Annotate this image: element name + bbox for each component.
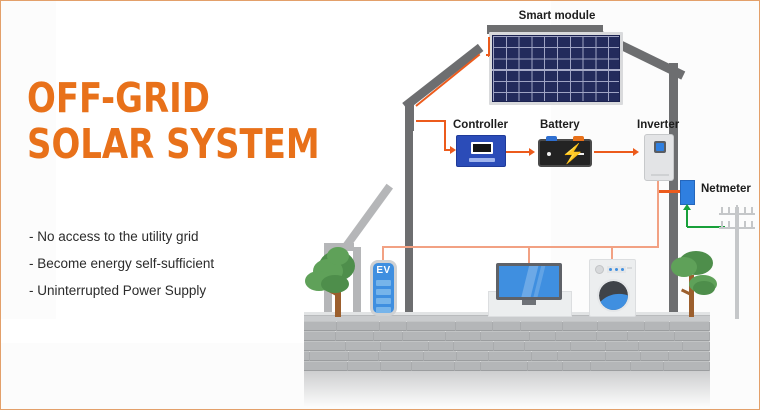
- foundation-stone: [641, 351, 668, 361]
- foundation-course: [304, 361, 710, 371]
- roof-slope-left-upper: [402, 44, 483, 110]
- tv-bezel: [496, 263, 562, 300]
- foundation-stone: [493, 321, 521, 331]
- ev-charger-icon: EV: [370, 260, 397, 316]
- washer-control-panel: [594, 264, 633, 275]
- foundation-stone: [489, 351, 531, 361]
- solar-panel-label: Smart module: [489, 10, 625, 22]
- ev-charger-segment: [376, 307, 391, 313]
- foundation-stone: [424, 351, 457, 361]
- foundation-course: [304, 341, 710, 351]
- netmeter-icon: [680, 180, 695, 205]
- washer-button: [621, 268, 624, 271]
- foundation-stone: [597, 331, 627, 341]
- foundation-course: [304, 321, 710, 331]
- foundation-stone: [631, 361, 663, 371]
- foundation-stone: [669, 351, 709, 361]
- foundation-stone: [571, 341, 605, 351]
- foundation-stone: [481, 361, 527, 371]
- controller-brandmark: [469, 158, 495, 162]
- inverter-label: Inverter: [637, 119, 679, 131]
- tree-foliage: [671, 257, 697, 277]
- pole-mast: [735, 207, 739, 319]
- foundation-stone: [304, 331, 335, 341]
- foundation-stone: [481, 331, 529, 341]
- wire-to-controller-h: [416, 120, 446, 122]
- foundation-stone: [310, 351, 348, 361]
- wire-panel-drop: [488, 37, 490, 55]
- tv-stand-neck: [522, 300, 536, 305]
- foundation-stone: [456, 321, 491, 331]
- lightning-bolt-icon: ⚡: [561, 145, 585, 164]
- foundation-stone: [563, 361, 590, 371]
- tree-icon: [303, 245, 363, 317]
- pole-insulator: [744, 221, 746, 228]
- foundation-stone: [606, 351, 640, 361]
- pole-insulator: [736, 205, 738, 214]
- pole-insulator: [721, 207, 723, 214]
- inverter-display: [654, 141, 666, 153]
- ev-charger-segment: [376, 298, 391, 304]
- washer-button: [615, 268, 618, 271]
- foundation-stone: [381, 341, 428, 351]
- infographic-canvas: OFF-GRID SOLAR SYSTEM - No access to the…: [0, 0, 760, 410]
- foundation-stone: [532, 351, 557, 361]
- washing-machine-icon: [589, 259, 636, 317]
- wire-panel-to-roof: [415, 54, 480, 107]
- foundation-stone: [304, 361, 347, 371]
- foundation-stone: [521, 321, 562, 331]
- foundation-stone: [457, 351, 488, 361]
- foundation-stone: [664, 361, 709, 371]
- foundation-stone: [412, 361, 453, 371]
- foundation-stone: [639, 341, 682, 351]
- wire-to-controller-v: [444, 120, 446, 149]
- washer-detergent-slot: [627, 267, 632, 269]
- foundation-stone: [380, 321, 406, 331]
- ground-reflection: [304, 371, 710, 407]
- foundation-stone: [336, 331, 372, 341]
- pole-crossarm-lower: [719, 227, 755, 229]
- controller-label: Controller: [453, 119, 508, 131]
- wire-controller-to-battery: [506, 151, 530, 153]
- foundation-stone: [591, 361, 630, 371]
- tree-foliage: [321, 275, 349, 293]
- wire-load-bus: [382, 246, 659, 248]
- foundation-stone: [494, 341, 524, 351]
- foundation-stone: [304, 341, 345, 351]
- foundation-stone: [349, 351, 378, 361]
- controller-display: [471, 142, 493, 154]
- ev-charger-label: EV: [373, 265, 394, 276]
- pole-insulator: [728, 207, 730, 214]
- foundation-stone: [598, 321, 644, 331]
- washer-buttons: [607, 266, 626, 273]
- battery-label: Battery: [540, 119, 580, 131]
- netmeter-label: Netmeter: [701, 183, 751, 195]
- pole-insulator: [744, 207, 746, 214]
- battery-icon: ⚡: [538, 139, 592, 167]
- foundation-stone: [455, 361, 480, 371]
- washer-door: [597, 279, 630, 312]
- foundation-stone: [348, 361, 380, 371]
- pole-insulator: [751, 207, 753, 214]
- foundation-stone: [346, 341, 380, 351]
- foundation-stone: [670, 321, 709, 331]
- house-illustration: Smart module Controller Battery: [1, 1, 760, 410]
- tv-screen: [499, 266, 559, 297]
- foundation-stone: [454, 341, 493, 351]
- tree-foliage: [327, 247, 349, 265]
- foundation-stone: [379, 351, 422, 361]
- foundation-stone: [407, 321, 455, 331]
- foundation-stone: [528, 361, 562, 371]
- foundation-stone: [403, 331, 445, 341]
- wire-grid-to-netmeter-v: [686, 209, 688, 227]
- battery-sign-plus: [547, 152, 551, 156]
- foundation-course: [304, 351, 710, 361]
- tree-icon: [667, 249, 721, 317]
- arrow-into-battery: [529, 148, 535, 156]
- foundation-stone: [446, 331, 480, 341]
- foundation-stone: [337, 321, 380, 331]
- foundation-stone: [558, 351, 605, 361]
- arrow-into-inverter: [633, 148, 639, 156]
- washer-dial-icon: [595, 265, 604, 274]
- solar-panel-icon: [489, 32, 623, 105]
- wire-panel-upper-diag: [488, 55, 489, 57]
- television-icon: [496, 263, 562, 316]
- wall-interior: [405, 129, 413, 317]
- foundation-stone: [628, 331, 674, 341]
- battery-terminal-negative: [546, 136, 557, 141]
- inverter-vent: [651, 174, 669, 176]
- foundation-stone: [563, 321, 596, 331]
- foundation-stone: [374, 331, 403, 341]
- wire-inverter-drop: [657, 181, 659, 247]
- ev-charger-segment: [376, 280, 391, 286]
- tree-foliage: [693, 281, 715, 295]
- roof-jog: [405, 105, 414, 131]
- foundation-course: [304, 331, 710, 341]
- charge-controller-icon: [456, 135, 506, 167]
- stone-foundation-icon: [304, 321, 710, 371]
- arrow-into-netmeter: [683, 204, 691, 210]
- ev-charger-segment: [376, 289, 391, 295]
- washer-button: [609, 268, 612, 271]
- solar-panel-midbar: [492, 69, 620, 71]
- foundation-stone: [645, 321, 669, 331]
- pole-insulator: [721, 221, 723, 228]
- pole-insulator: [728, 221, 730, 228]
- wire-battery-to-inverter: [594, 151, 634, 153]
- foundation-stone: [606, 341, 638, 351]
- foundation-stone: [683, 341, 709, 351]
- foundation-stone: [525, 341, 570, 351]
- battery-terminal-positive: [573, 136, 584, 141]
- inverter-icon: [644, 134, 674, 181]
- foundation-stone: [675, 331, 709, 341]
- foundation-stone: [304, 321, 336, 331]
- foundation-stone: [556, 331, 596, 341]
- pole-insulator: [751, 221, 753, 228]
- utility-pole-icon: [717, 201, 757, 319]
- foundation-stone: [429, 341, 453, 351]
- foundation-stone: [381, 361, 411, 371]
- foundation-stone: [304, 351, 309, 361]
- foundation-stone: [530, 331, 555, 341]
